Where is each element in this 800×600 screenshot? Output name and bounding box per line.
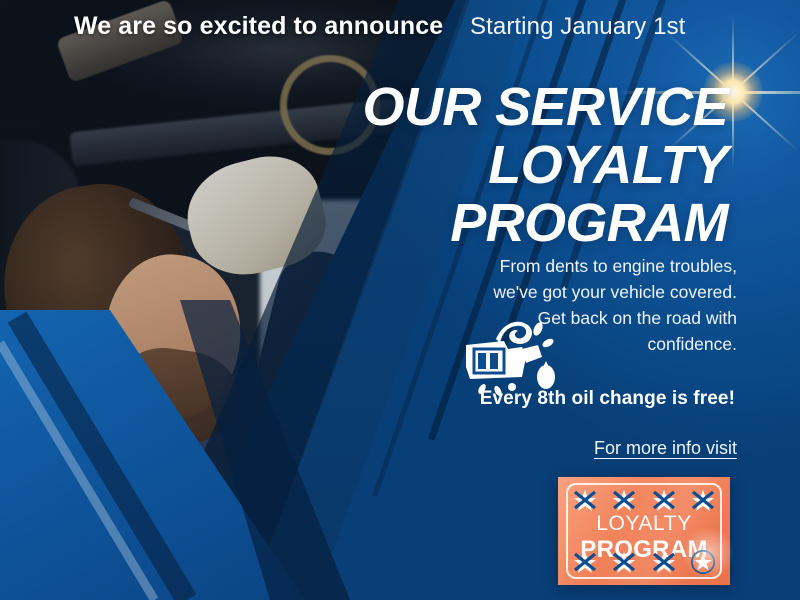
- star-icon: [651, 550, 677, 574]
- star-icon: [651, 488, 677, 512]
- stamp-slot: [651, 488, 677, 512]
- announcement-text: We are so excited to announce: [74, 12, 443, 41]
- oil-can-pouring-icon: [452, 305, 562, 397]
- card-label-line-1: LOYALTY: [558, 513, 730, 534]
- body-line-1: From dents to engine troubles,: [427, 253, 737, 279]
- offer-text: Every 8th oil change is free!: [480, 388, 735, 410]
- promotional-poster: We are so excited to announce Starting J…: [0, 0, 800, 600]
- stamp-slot: [611, 488, 637, 512]
- star-icon: [611, 550, 637, 574]
- stamp-slot-reward: [690, 550, 716, 574]
- stamp-slot: [651, 550, 677, 574]
- star-icon: [690, 550, 716, 574]
- more-info-link[interactable]: For more info visit: [594, 438, 737, 459]
- star-icon: [572, 488, 598, 512]
- start-date-text: Starting January 1st: [470, 13, 685, 41]
- title-line-2: LOYALTY: [298, 136, 728, 194]
- stamp-slot: [611, 550, 637, 574]
- stamp-row-top: [572, 488, 716, 512]
- stamp-slot: [572, 550, 598, 574]
- stamp-slot: [690, 488, 716, 512]
- loyalty-card: LOYALTY PROGRAM: [558, 477, 730, 585]
- title-line-3: PROGRAM: [298, 194, 728, 252]
- stamp-row-bottom: [572, 550, 716, 574]
- star-icon: [611, 488, 637, 512]
- title-line-1: OUR SERVICE: [298, 78, 728, 136]
- stamp-slot: [572, 488, 598, 512]
- star-icon: [572, 550, 598, 574]
- page-title: OUR SERVICE LOYALTY PROGRAM: [298, 78, 728, 252]
- body-line-2: we've got your vehicle covered.: [427, 279, 737, 305]
- star-icon: [690, 488, 716, 512]
